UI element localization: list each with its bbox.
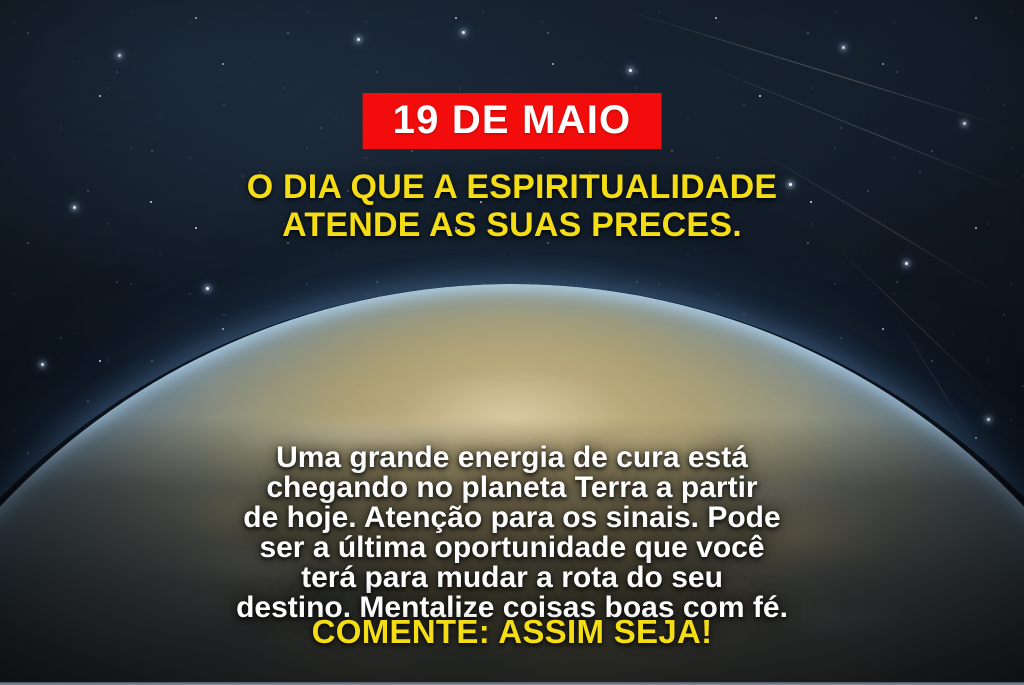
headline-line-1: O DIA QUE A ESPIRITUALIDADE xyxy=(0,168,1024,206)
headline-line-2: ATENDE AS SUAS PRECES. xyxy=(0,206,1024,244)
headline: O DIA QUE A ESPIRITUALIDADE ATENDE AS SU… xyxy=(0,168,1024,244)
body-copy: Uma grande energia de cura está chegando… xyxy=(0,443,1024,623)
call-to-action-text: COMENTE: ASSIM SEJA! xyxy=(0,615,1024,648)
body-copy-line-4: ser a última oportunidade que você xyxy=(0,533,1024,563)
body-copy-line-2: chegando no planeta Terra a partir xyxy=(0,473,1024,503)
date-banner-label: 19 DE MAIO xyxy=(393,100,632,140)
body-copy-line-5: terá para mudar a rota do seu xyxy=(0,563,1024,593)
poster-canvas: 19 DE MAIO O DIA QUE A ESPIRITUALIDADE A… xyxy=(0,0,1024,685)
body-copy-line-1: Uma grande energia de cura está xyxy=(0,443,1024,473)
date-banner: 19 DE MAIO xyxy=(363,93,662,149)
poster-content: 19 DE MAIO O DIA QUE A ESPIRITUALIDADE A… xyxy=(0,0,1024,685)
body-copy-line-3: de hoje. Atenção para os sinais. Pode xyxy=(0,503,1024,533)
